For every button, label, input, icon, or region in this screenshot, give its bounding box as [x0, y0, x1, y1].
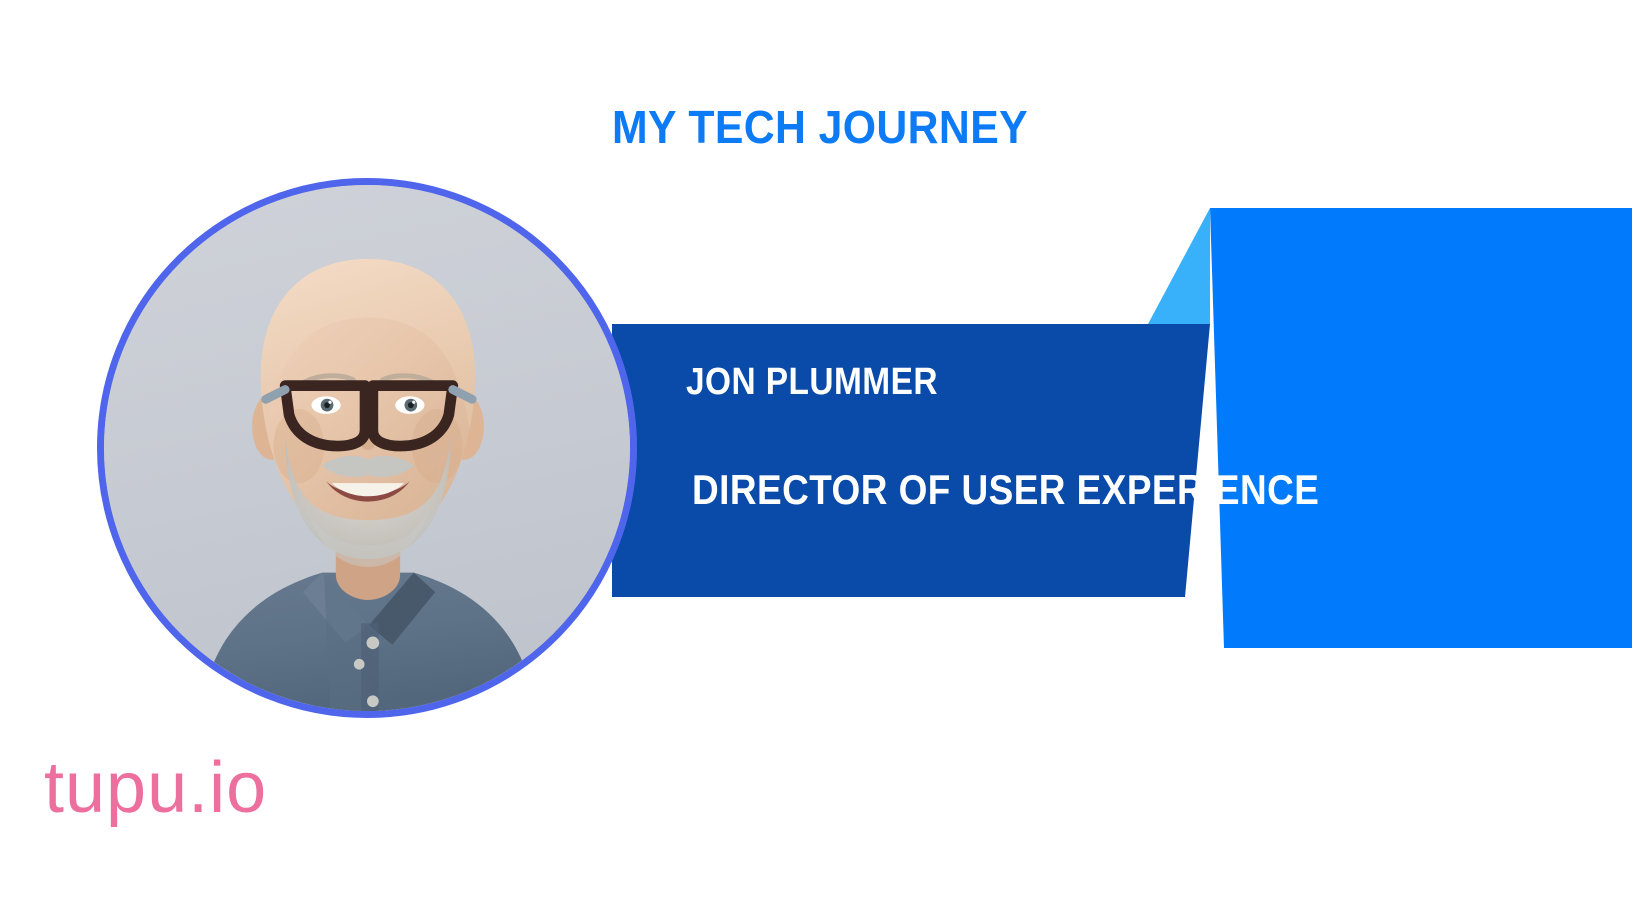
person-name: JON PLUMMER: [686, 360, 1478, 404]
portrait-photo: [104, 185, 630, 711]
light-blue-triangle: [1148, 208, 1210, 324]
slide-canvas: MY TECH JOURNEY: [0, 0, 1640, 924]
avatar: [97, 178, 637, 718]
person-info-block: JON PLUMMER DIRECTOR OF USER EXPERIENCE: [686, 360, 1586, 514]
page-title: MY TECH JOURNEY: [57, 100, 1582, 154]
brand-logo[interactable]: tupu.io: [44, 748, 267, 828]
person-role: DIRECTOR OF USER EXPERIENCE: [692, 466, 1479, 514]
